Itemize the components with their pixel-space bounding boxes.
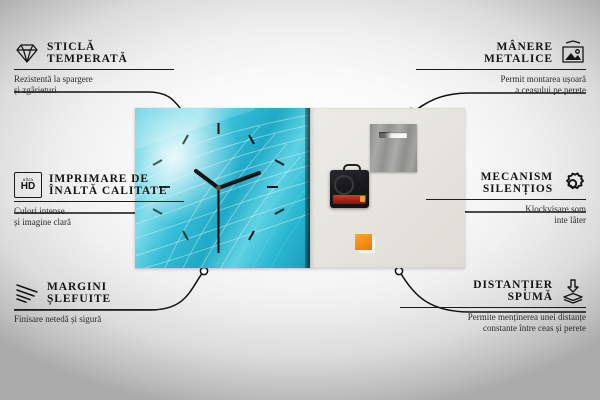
feature-title-line1: STICLĂ <box>47 41 95 53</box>
feature-silent-mechanism: MECANISM SILENȚIOS Klockvisare som inte … <box>426 170 586 226</box>
down-arrow-stack-icon <box>560 278 586 304</box>
feature-title-line2: SPUMĂ <box>508 291 553 303</box>
clock-mechanism <box>330 170 369 208</box>
feature-subtitle-line1: Finisare netedă și sigură <box>14 314 101 324</box>
feature-title-line1: MECANISM <box>481 171 553 183</box>
feature-title-line2: ȘLEFUITE <box>47 293 111 305</box>
feature-title-line2: METALICE <box>484 53 553 65</box>
feature-title-line1: MÂNERE <box>496 41 553 53</box>
feature-subtitle-line1: Permite menținerea unei distanțe <box>468 312 586 322</box>
feature-subtitle-line2: constante între ceas și perete <box>483 323 586 333</box>
product-photo <box>135 108 465 268</box>
foam-spacer <box>355 234 372 250</box>
divider <box>426 199 586 200</box>
feature-title-line1: IMPRIMARE DE <box>49 173 149 185</box>
battery <box>333 195 366 204</box>
feature-polished-edges: MARGINI ȘLEFUITE Finisare netedă și sigu… <box>14 280 162 325</box>
ultra-hd-icon: ultra HD <box>14 172 42 198</box>
feature-tempered-glass: STICLĂ TEMPERATĂ Rezistentă la spargere … <box>14 40 174 96</box>
feature-subtitle-line2: și imagine clară <box>14 217 71 227</box>
diamond-icon <box>14 40 40 66</box>
metal-hanger-plate <box>370 124 417 172</box>
feature-title-line1: DISTANȚIER <box>473 279 553 291</box>
feature-metal-handles: MÂNERE METALICE Permit montarea ușoară a… <box>416 40 586 96</box>
feature-title-line2: TEMPERATĂ <box>47 53 128 65</box>
feature-subtitle-line1: Rezistentă la spargere <box>14 74 93 84</box>
feature-subtitle-line1: Culori intense <box>14 206 65 216</box>
divider <box>14 201 184 202</box>
ultra-hd-icon-main: HD <box>21 182 35 192</box>
picture-frame-icon <box>560 40 586 66</box>
infographic-canvas: STICLĂ TEMPERATĂ Rezistentă la spargere … <box>0 0 600 400</box>
polished-edge-icon <box>14 280 40 306</box>
feature-subtitle-line2: inte låter <box>554 215 586 225</box>
feature-title-line2: ÎNALTĂ CALITATE <box>49 185 167 197</box>
feature-title-line1: MARGINI <box>47 281 107 293</box>
gear-icon <box>560 170 586 196</box>
connector-dot-edges <box>200 267 207 274</box>
divider <box>14 309 162 310</box>
mechanism-hook <box>343 164 361 175</box>
connector-dot-spacer <box>395 267 402 274</box>
divider <box>400 307 586 308</box>
feature-title-line2: SILENȚIOS <box>483 183 553 195</box>
feature-high-quality-print: ultra HD IMPRIMARE DE ÎNALTĂ CALITATE Cu… <box>14 172 184 228</box>
mechanism-dial <box>334 175 354 195</box>
feature-subtitle-line1: Klockvisare som <box>525 204 586 214</box>
divider <box>14 69 174 70</box>
feature-foam-spacer: DISTANȚIER SPUMĂ Permite menținerea unei… <box>400 278 586 334</box>
hanger-slot <box>379 132 407 138</box>
feature-subtitle-line2: și zgârieturi <box>14 85 57 95</box>
divider <box>416 69 586 70</box>
feature-subtitle-line1: Permit montarea ușoară <box>501 74 586 84</box>
feature-subtitle-line2: a ceasului pe perete <box>515 85 586 95</box>
